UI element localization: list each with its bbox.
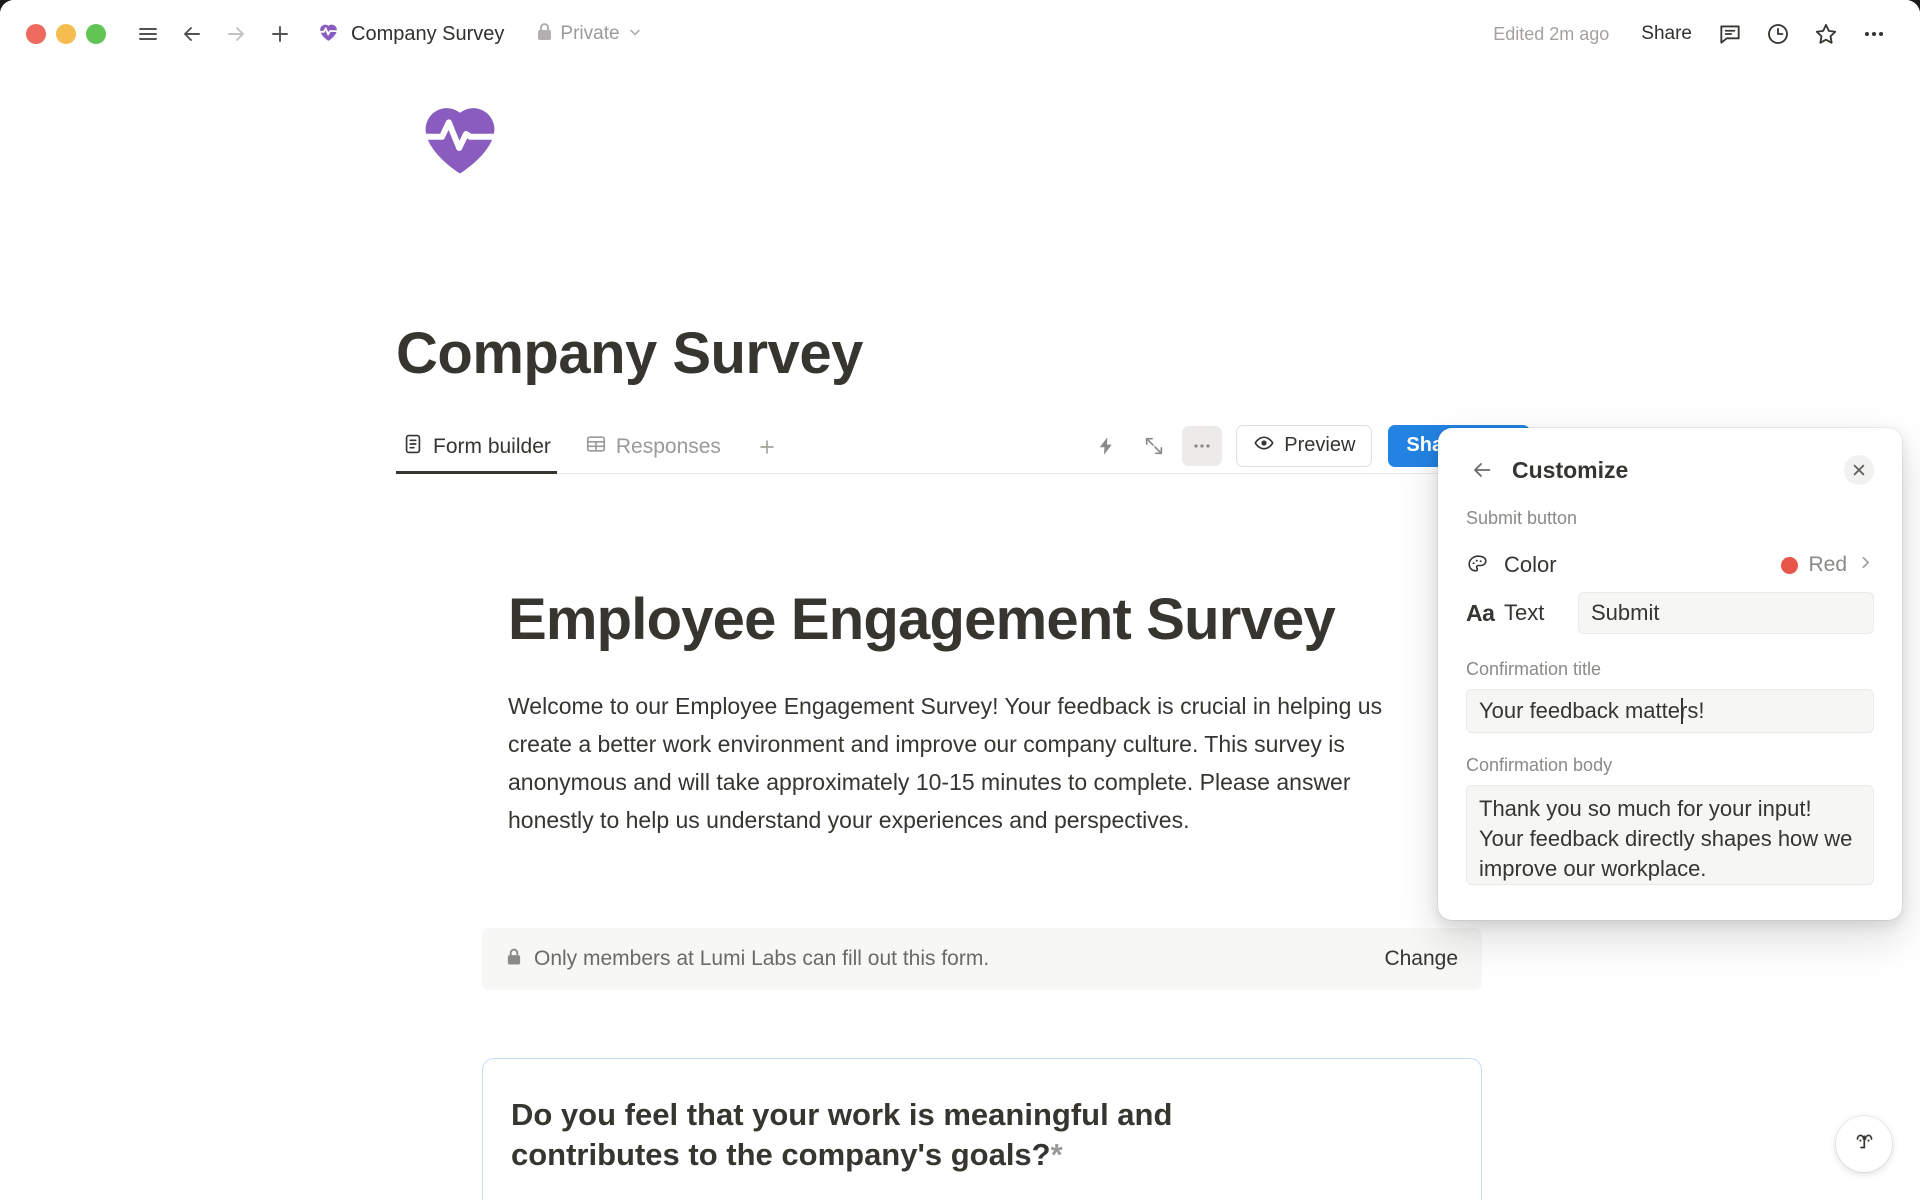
confirmation-title-input[interactable] [1466, 689, 1874, 733]
confirmation-body-input[interactable] [1466, 785, 1874, 885]
submit-color-value[interactable]: Red [1781, 553, 1874, 577]
customize-panel: Customize Submit button Color Red [1438, 428, 1902, 920]
automation-button[interactable] [1086, 426, 1126, 466]
tab-form-builder[interactable]: Form builder [396, 421, 557, 473]
confirmation-title-label: Confirmation title [1466, 659, 1874, 680]
question-title-text: Do you feel that your work is meaningful… [511, 1097, 1172, 1172]
text-cursor [1681, 698, 1683, 724]
share-button[interactable]: Share [1629, 17, 1704, 51]
more-options-button[interactable] [1852, 12, 1896, 56]
titlebar-nav-icons [126, 12, 302, 56]
access-restriction-banner: Only members at Lumi Labs can fill out t… [482, 928, 1482, 990]
color-swatch [1781, 557, 1798, 574]
palette-icon [1466, 553, 1500, 577]
tab-responses[interactable]: Responses [579, 421, 727, 473]
submit-text-label: Text [1504, 600, 1544, 626]
titlebar-actions: Edited 2m ago Share [1493, 12, 1896, 56]
heart-pulse-icon [316, 19, 341, 49]
traffic-light-buttons [26, 24, 106, 44]
privacy-label: Private [560, 23, 619, 45]
confirmation-title-block: Confirmation title [1466, 659, 1874, 733]
customize-panel-header: Customize [1466, 450, 1874, 490]
confirmation-body-block: Confirmation body [1466, 755, 1874, 890]
comment-button[interactable] [1708, 12, 1752, 56]
sidebar-toggle-button[interactable] [126, 12, 170, 56]
submit-text-input[interactable] [1578, 592, 1874, 634]
table-icon [585, 433, 607, 460]
eye-icon [1253, 432, 1275, 459]
window-maximize-button[interactable] [86, 24, 106, 44]
breadcrumb-page-button[interactable]: Company Survey [308, 14, 512, 54]
new-page-button[interactable] [258, 12, 302, 56]
required-marker: * [1051, 1137, 1063, 1172]
preview-button-label: Preview [1284, 434, 1355, 457]
nav-forward-button[interactable] [214, 12, 258, 56]
chevron-down-icon [627, 24, 643, 45]
window-minimize-button[interactable] [56, 24, 76, 44]
edited-timestamp: Edited 2m ago [1493, 24, 1609, 45]
assistant-face-icon [1849, 1127, 1879, 1162]
preview-button[interactable]: Preview [1236, 425, 1372, 467]
confirmation-body-label: Confirmation body [1466, 755, 1874, 776]
expand-button[interactable] [1134, 426, 1174, 466]
tab-form-builder-label: Form builder [433, 435, 551, 459]
page-title[interactable]: Company Survey [396, 320, 863, 387]
breadcrumb-title: Company Survey [351, 23, 504, 46]
document-icon [402, 433, 424, 460]
window-close-button[interactable] [26, 24, 46, 44]
form-heading[interactable]: Employee Engagement Survey [508, 588, 1518, 653]
form-description[interactable]: Welcome to our Employee Engagement Surve… [508, 688, 1438, 840]
app-window: Company Survey Private Edited 2m ago Sha… [0, 0, 1920, 1200]
question-title[interactable]: Do you feel that your work is meaningful… [511, 1095, 1201, 1174]
chevron-right-icon [1857, 554, 1874, 576]
customize-panel-title: Customize [1512, 457, 1628, 484]
submit-color-label: Color [1504, 552, 1557, 578]
customize-close-button[interactable] [1844, 455, 1874, 485]
form-more-options-button[interactable] [1182, 426, 1222, 466]
aa-text-icon: Aa [1466, 600, 1500, 627]
lock-icon [536, 22, 553, 47]
privacy-dropdown[interactable]: Private [528, 16, 650, 52]
submit-text-row[interactable]: Aa Text [1466, 589, 1874, 637]
lock-icon [506, 947, 522, 972]
customize-back-button[interactable] [1466, 454, 1498, 486]
nav-back-button[interactable] [170, 12, 214, 56]
submit-color-name: Red [1808, 553, 1847, 577]
tab-responses-label: Responses [616, 435, 721, 459]
submit-color-row[interactable]: Color Red [1466, 541, 1874, 589]
question-card[interactable]: Do you feel that your work is meaningful… [482, 1058, 1482, 1200]
page-icon-heart-pulse-icon[interactable] [412, 88, 508, 184]
access-restriction-text: Only members at Lumi Labs can fill out t… [534, 947, 989, 971]
favorite-button[interactable] [1804, 12, 1848, 56]
submit-button-section-label: Submit button [1466, 508, 1874, 529]
tab-bar: Form builder Responses [396, 420, 1530, 474]
titlebar: Company Survey Private Edited 2m ago Sha… [0, 0, 1920, 68]
change-access-button[interactable]: Change [1384, 947, 1458, 971]
history-button[interactable] [1756, 12, 1800, 56]
add-tab-button[interactable] [749, 429, 785, 465]
assistant-fab-button[interactable] [1836, 1116, 1892, 1172]
